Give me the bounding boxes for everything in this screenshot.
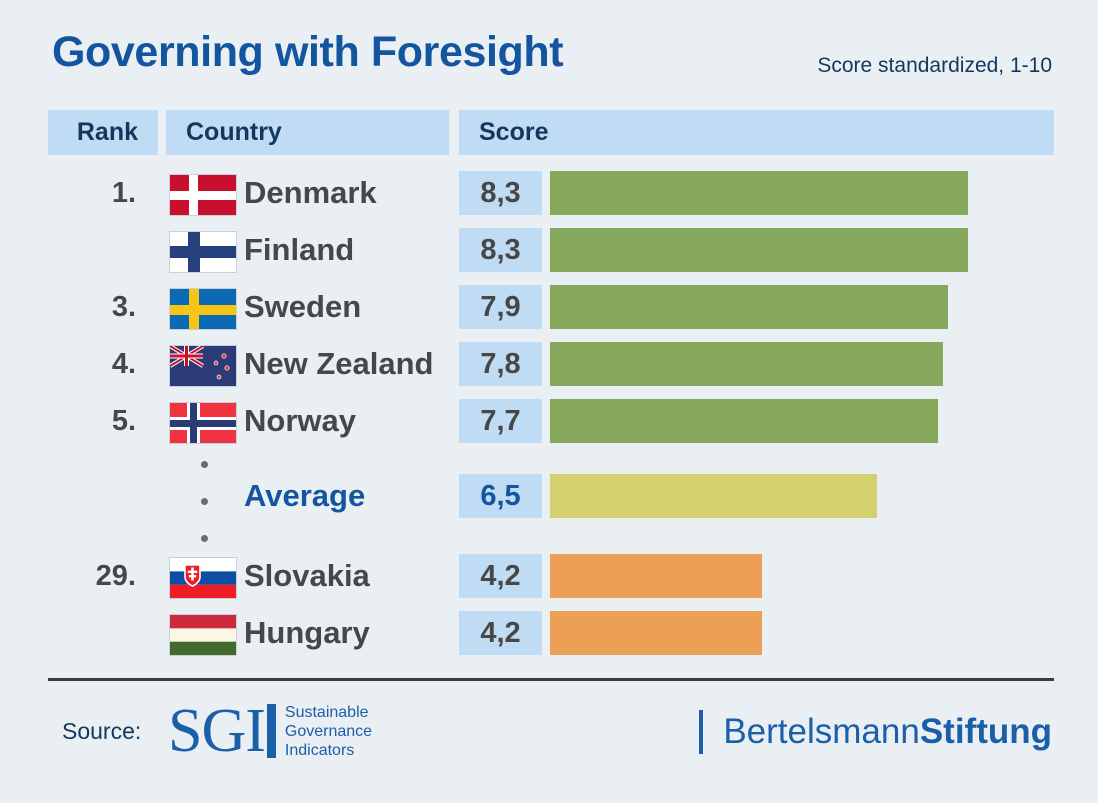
country-name: Sweden [244, 279, 361, 335]
flag-norway-icon [170, 403, 236, 443]
average-label: Average [244, 468, 365, 524]
score-value: 7,7 [459, 399, 542, 443]
table-row: 29. Slovakia4,2 [0, 548, 1098, 604]
ellipsis-dot [201, 461, 208, 468]
country-name: Finland [244, 222, 354, 278]
source-label: Source: [62, 718, 141, 745]
country-name: Norway [244, 393, 356, 449]
score-bar [550, 171, 968, 215]
score-value: 8,3 [459, 171, 542, 215]
score-value: 4,2 [459, 554, 542, 598]
country-name: Denmark [244, 165, 377, 221]
flag-hungary-icon [170, 615, 236, 655]
table-row: 5. Norway7,7 [0, 393, 1098, 449]
brand-name-bold: Stiftung [920, 712, 1052, 751]
score-value: 6,5 [459, 474, 542, 518]
country-name: Slovakia [244, 548, 370, 604]
flag-slovakia-icon [170, 558, 236, 598]
page-title: Governing with Foresight [52, 28, 563, 77]
score-value: 7,9 [459, 285, 542, 329]
rank-cell: 3. [48, 279, 158, 335]
sgi-tagline-line1: Sustainable [285, 704, 369, 721]
sgi-logo-bar [267, 704, 276, 758]
score-value: 7,8 [459, 342, 542, 386]
ellipsis-dot [201, 498, 208, 505]
score-bar [550, 228, 968, 272]
table-row: Hungary4,2 [0, 605, 1098, 661]
score-bar [550, 554, 762, 598]
infographic-page: Governing with Foresight Score standardi… [0, 0, 1098, 803]
score-bar [550, 285, 948, 329]
sgi-logo-letters: SGI [168, 700, 265, 762]
score-bar [550, 399, 938, 443]
sgi-logo: SGI Sustainable Governance Indicators [168, 700, 372, 762]
brand-rule [699, 710, 703, 754]
chart-subtitle: Score standardized, 1-10 [817, 54, 1052, 78]
score-bar [550, 342, 943, 386]
flag-new-zealand-icon [170, 346, 236, 386]
rank-cell: 29. [48, 548, 158, 604]
bertelsmann-stiftung-logo: BertelsmannStiftung [699, 710, 1052, 754]
ellipsis-dot [201, 535, 208, 542]
table-row: Average6,5 [0, 468, 1098, 524]
table-row: 1. Denmark8,3 [0, 165, 1098, 221]
rank-cell: 5. [48, 393, 158, 449]
score-value: 8,3 [459, 228, 542, 272]
table-row: 4. [0, 336, 1098, 392]
table-row: Finland8,3 [0, 222, 1098, 278]
rank-cell: 1. [48, 165, 158, 221]
country-name: Hungary [244, 605, 370, 661]
sgi-tagline-line2: Governance [285, 723, 372, 740]
column-header-score: Score [459, 110, 1054, 155]
brand-text: BertelsmannStiftung [723, 712, 1052, 752]
footer-divider [48, 678, 1054, 681]
score-bar [550, 611, 762, 655]
sgi-logo-tagline: Sustainable Governance Indicators [285, 703, 372, 760]
flag-denmark-icon [170, 175, 236, 215]
score-bar [550, 474, 877, 518]
rank-cell: 4. [48, 336, 158, 392]
column-header-rank: Rank [48, 110, 158, 155]
country-name: New Zealand [244, 336, 434, 392]
column-header-country: Country [166, 110, 449, 155]
sgi-tagline-line3: Indicators [285, 742, 354, 759]
flag-finland-icon [170, 232, 236, 272]
flag-sweden-icon [170, 289, 236, 329]
score-value: 4,2 [459, 611, 542, 655]
table-row: 3. Sweden7,9 [0, 279, 1098, 335]
brand-name-regular: Bertelsmann [723, 712, 919, 751]
